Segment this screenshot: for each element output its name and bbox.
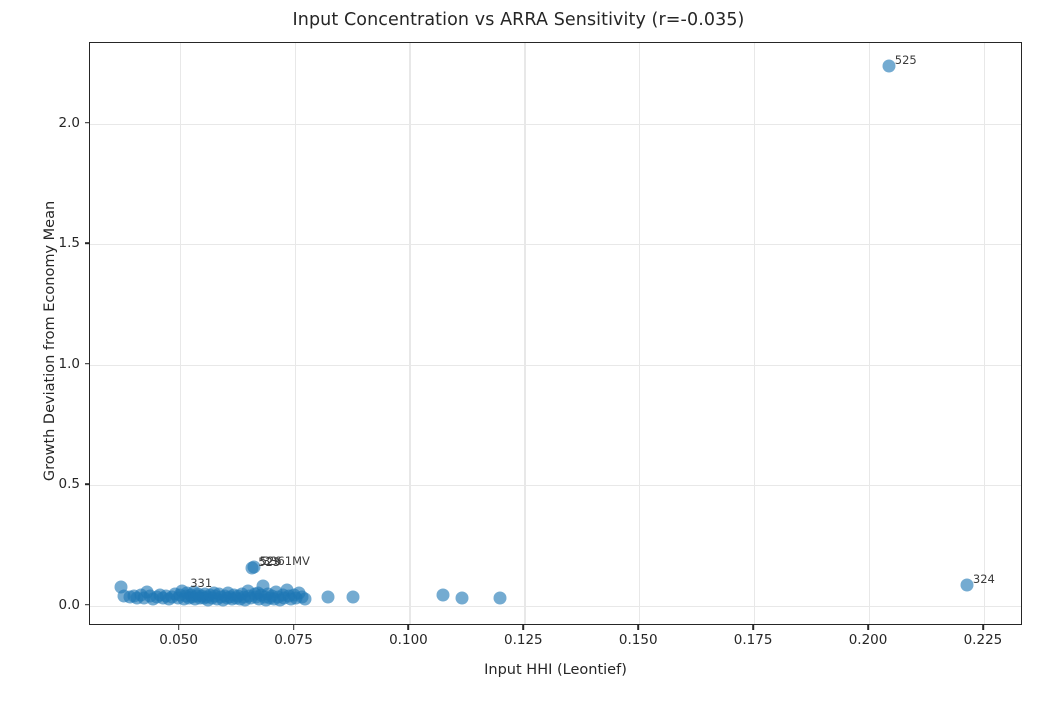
gridline-vertical-2 bbox=[409, 43, 410, 624]
gridline-horizontal-4 bbox=[90, 124, 1021, 125]
x-tick-label-4: 0.150 bbox=[619, 632, 658, 648]
x-tick-label-0: 0.050 bbox=[159, 632, 198, 648]
y-tick-mark-4 bbox=[85, 122, 90, 124]
gridline-vertical-6 bbox=[869, 43, 870, 624]
gridline-horizontal-0 bbox=[90, 606, 1021, 607]
gridline-vertical-4 bbox=[639, 43, 640, 624]
chart-title: Input Concentration vs ARRA Sensitivity … bbox=[0, 10, 1037, 30]
scatter-point bbox=[493, 591, 506, 604]
gridline-vertical-0 bbox=[180, 43, 181, 624]
y-tick-mark-1 bbox=[85, 483, 90, 485]
scatter-point bbox=[882, 60, 895, 73]
x-tick-mark-4 bbox=[637, 625, 639, 630]
annotation-label-324: 324 bbox=[973, 572, 995, 586]
x-tick-mark-7 bbox=[982, 625, 984, 630]
y-tick-mark-2 bbox=[85, 363, 90, 365]
x-tick-label-5: 0.175 bbox=[734, 632, 773, 648]
plot-area: 5255235263361MV331324 bbox=[89, 42, 1022, 625]
scatter-point bbox=[437, 588, 450, 601]
x-tick-mark-5 bbox=[752, 625, 754, 630]
x-tick-mark-3 bbox=[523, 625, 525, 630]
y-tick-mark-3 bbox=[85, 242, 90, 244]
gridline-horizontal-2 bbox=[90, 365, 1021, 366]
gridline-vertical-3 bbox=[524, 43, 525, 624]
scatter-point bbox=[322, 590, 335, 603]
y-tick-label-4: 2.0 bbox=[42, 115, 80, 131]
x-tick-label-6: 0.200 bbox=[849, 632, 888, 648]
x-tick-mark-1 bbox=[293, 625, 295, 630]
gridline-horizontal-1 bbox=[90, 485, 1021, 486]
x-tick-label-2: 0.100 bbox=[389, 632, 428, 648]
scatter-plot-figure: Input Concentration vs ARRA Sensitivity … bbox=[0, 0, 1037, 701]
gridline-horizontal-3 bbox=[90, 244, 1021, 245]
y-tick-mark-0 bbox=[85, 604, 90, 606]
y-tick-label-0: 0.0 bbox=[42, 597, 80, 613]
scatter-point bbox=[298, 592, 311, 605]
x-tick-label-3: 0.125 bbox=[504, 632, 543, 648]
y-axis-label: Growth Deviation from Economy Mean bbox=[42, 141, 58, 541]
x-tick-label-1: 0.075 bbox=[274, 632, 313, 648]
annotation-label-331: 331 bbox=[190, 576, 212, 590]
x-tick-mark-2 bbox=[408, 625, 410, 630]
x-tick-label-7: 0.225 bbox=[964, 632, 1003, 648]
x-axis-label: Input HHI (Leontief) bbox=[89, 662, 1022, 678]
annotation-label-525: 525 bbox=[895, 53, 917, 67]
x-tick-mark-0 bbox=[178, 625, 180, 630]
gridline-vertical-1 bbox=[295, 43, 296, 624]
gridline-vertical-5 bbox=[754, 43, 755, 624]
gridline-vertical-7 bbox=[984, 43, 985, 624]
scatter-point bbox=[455, 592, 468, 605]
scatter-point bbox=[960, 579, 973, 592]
scatter-point bbox=[347, 591, 360, 604]
x-tick-mark-6 bbox=[867, 625, 869, 630]
annotation-label-3361MV: 3361MV bbox=[263, 554, 310, 568]
